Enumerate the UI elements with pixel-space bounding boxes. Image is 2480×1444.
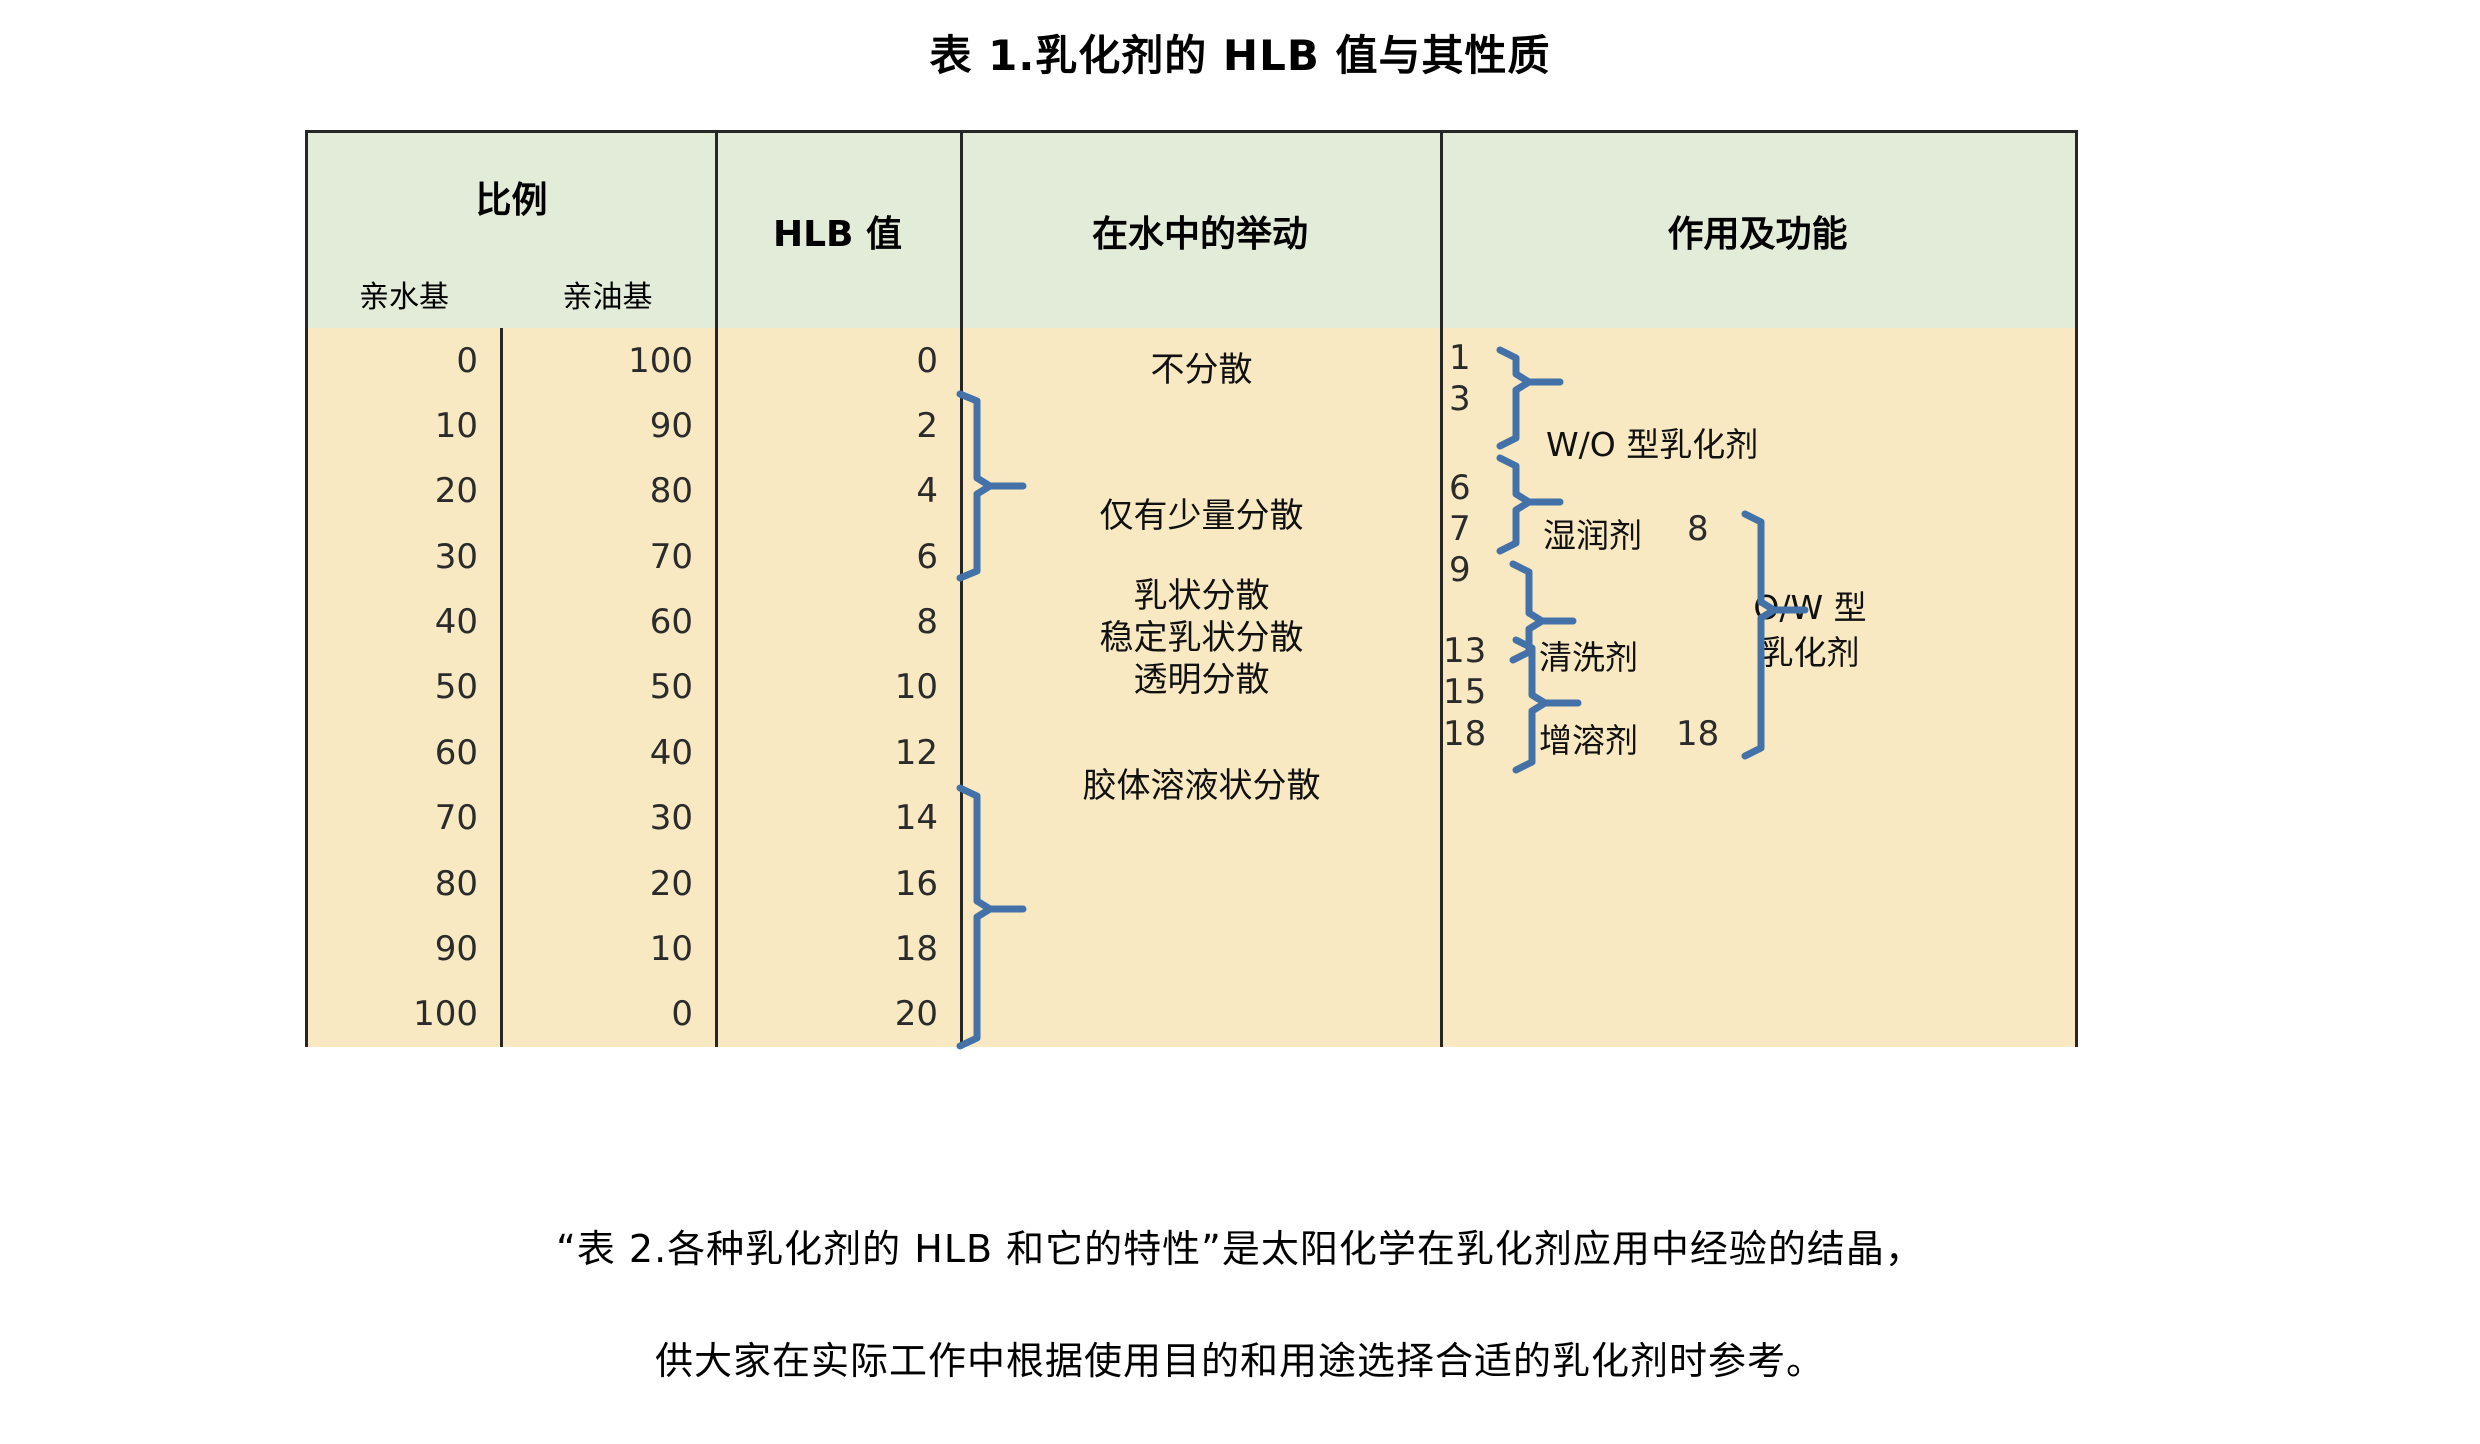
table-cell: 80: [503, 459, 715, 524]
table-cell: 60: [308, 720, 500, 785]
table-cell: 30: [503, 786, 715, 851]
header-action-function: 作用及功能: [1440, 133, 2075, 328]
column-action-function: 1 3 6 7 9 13 15 18 8 18 W/O 型乳化剂 湿润剂 清洗剂…: [1443, 328, 2075, 1047]
table-cell: 90: [308, 916, 500, 981]
table-cell: 40: [308, 589, 500, 654]
function-label-wo-emulsifier: W/O 型乳化剂: [1546, 418, 1758, 466]
function-marker: 18: [1443, 714, 1486, 754]
table-cell: 50: [308, 655, 500, 720]
column-hydrophilic: 0 10 20 30 40 50 60 70 80 90 100: [308, 328, 500, 1047]
table-cell: 100: [308, 982, 500, 1047]
behaviour-label: 透明分散: [963, 652, 1440, 701]
ow-label-line2: 乳化剂: [1761, 633, 1860, 672]
function-marker: 18: [1676, 714, 1719, 754]
table-cell: 50: [503, 655, 715, 720]
behaviour-label: 不分散: [963, 342, 1440, 391]
table-cell: 90: [503, 393, 715, 458]
table-cell: 100: [503, 328, 715, 393]
table-cell: 12: [718, 720, 960, 785]
function-label-detergent: 清洗剂: [1539, 631, 1638, 679]
header-behaviour-in-water: 在水中的举动: [960, 133, 1440, 328]
function-marker: 8: [1687, 509, 1709, 549]
header-rule-b: [960, 133, 963, 328]
table-cell: 10: [718, 655, 960, 720]
function-marker: 1: [1449, 338, 1471, 378]
ow-label-line1: O/W 型: [1753, 588, 1866, 627]
table-cell: 4: [718, 459, 960, 524]
behaviour-label: 仅有少量分散: [963, 488, 1440, 537]
function-label-solubilizer: 增溶剂: [1539, 714, 1638, 762]
table-cell: 70: [308, 786, 500, 851]
column-hlb-value: 0 2 4 6 8 10 12 14 16 18 20: [718, 328, 960, 1047]
header-ratio: 比例: [308, 133, 715, 260]
behaviour-label: 胶体溶液状分散: [963, 758, 1440, 807]
table-cell: 0: [718, 328, 960, 393]
table-header: 比例 亲水基 亲油基 HLB 值 在水中的举动 作用及功能: [308, 133, 2075, 328]
function-marker: 7: [1449, 509, 1471, 549]
header-rule-a: [715, 133, 718, 328]
column-behaviour-in-water: 不分散 仅有少量分散 乳状分散 稳定乳状分散 透明分散 胶体溶液状分散: [963, 328, 1440, 1047]
function-marker: 9: [1449, 550, 1471, 590]
table-cell: 30: [308, 524, 500, 589]
table-cell: 10: [308, 393, 500, 458]
table-cell: 20: [503, 851, 715, 916]
table-cell: 14: [718, 786, 960, 851]
table-cell: 10: [503, 916, 715, 981]
header-hydrophilic: 亲水基: [308, 260, 500, 328]
page-title: 表 1.乳化剂的 HLB 值与其性质: [0, 22, 2480, 83]
paragraph-line-1: “表 2.各种乳化剂的 HLB 和它的特性”是太阳化学在乳化剂应用中经验的结晶，: [0, 1218, 2480, 1273]
header-rule-c: [1440, 133, 1443, 328]
table-cell: 0: [503, 982, 715, 1047]
table-cell: 60: [503, 589, 715, 654]
table-cell: 70: [503, 524, 715, 589]
table-cell: 20: [308, 459, 500, 524]
function-marker: 15: [1443, 672, 1486, 712]
hlb-properties-table: 比例 亲水基 亲油基 HLB 值 在水中的举动 作用及功能 0 10 20 30…: [305, 130, 2078, 1047]
function-marker: 13: [1443, 631, 1486, 671]
table-cell: 0: [308, 328, 500, 393]
function-label-wetting-agent: 湿润剂: [1543, 509, 1642, 557]
table-cell: 6: [718, 524, 960, 589]
header-hlb-value: HLB 值: [715, 133, 960, 328]
function-marker: 3: [1449, 379, 1471, 419]
function-label-ow-emulsifier: O/W 型 乳化剂: [1750, 586, 1870, 675]
table-cell: 2: [718, 393, 960, 458]
column-lipophilic: 100 90 80 70 60 50 40 30 20 10 0: [503, 328, 715, 1047]
function-marker: 6: [1449, 468, 1471, 508]
table-cell: 8: [718, 589, 960, 654]
paragraph-line-2: 供大家在实际工作中根据使用目的和用途选择合适的乳化剂时参考。: [0, 1330, 2480, 1385]
header-lipophilic: 亲油基: [500, 260, 715, 328]
table-cell: 18: [718, 916, 960, 981]
table-cell: 40: [503, 720, 715, 785]
table-body: 0 10 20 30 40 50 60 70 80 90 100 100 90 …: [308, 328, 2075, 1047]
table-cell: 20: [718, 982, 960, 1047]
table-cell: 80: [308, 851, 500, 916]
table-cell: 16: [718, 851, 960, 916]
